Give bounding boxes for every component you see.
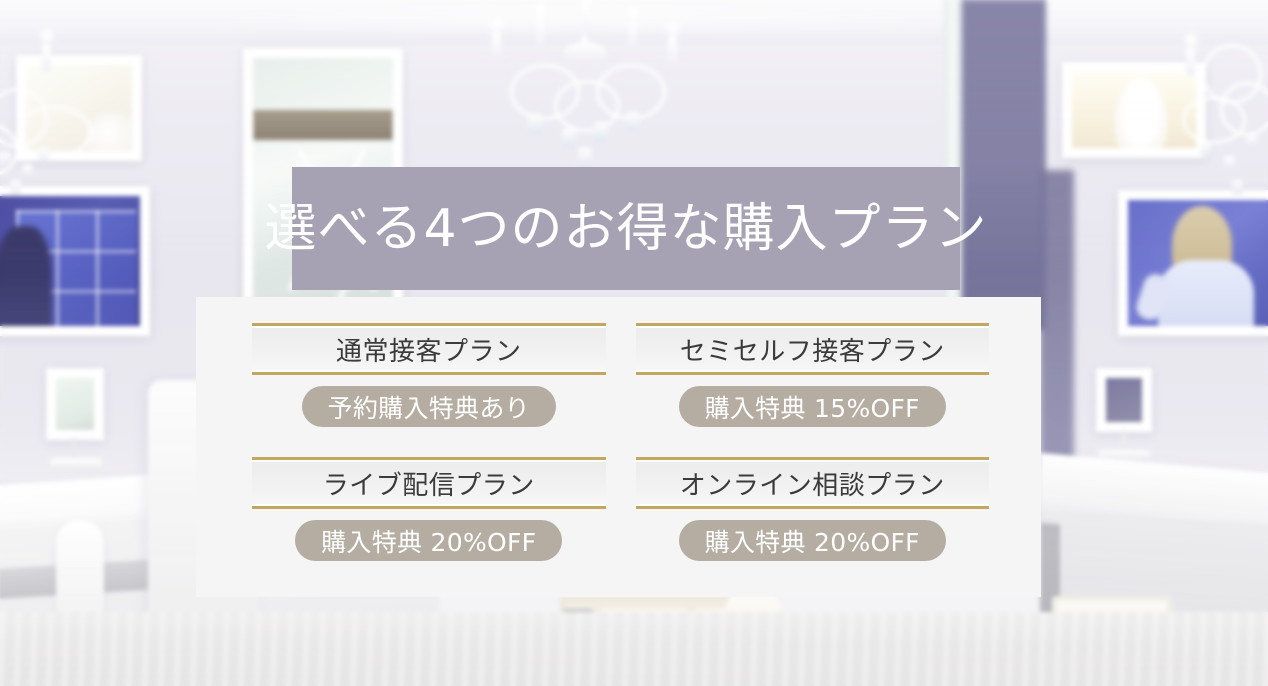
plan-name-semiself: セミセルフ接客プラン bbox=[636, 323, 990, 375]
hero-title-band: 選べる4つのお得な購入プラン bbox=[292, 167, 960, 290]
plan-badge-regular: 予約購入特典あり bbox=[302, 386, 556, 427]
plan-name-online: オンライン相談プラン bbox=[636, 457, 990, 509]
plan-card-online[interactable]: オンライン相談プラン 購入特典 20%OFF bbox=[636, 457, 990, 571]
plan-name-label: オンライン相談プラン bbox=[680, 465, 945, 502]
page-title: 選べる4つのお得な購入プラン bbox=[264, 203, 987, 255]
plan-name-label: 通常接客プラン bbox=[336, 331, 522, 368]
plan-name-label: セミセルフ接客プラン bbox=[680, 331, 945, 368]
plan-name-regular: 通常接客プラン bbox=[252, 323, 606, 375]
plans-grid: 通常接客プラン 予約購入特典あり セミセルフ接客プラン 購入特典 15%OFF … bbox=[196, 297, 1041, 597]
plan-card-semiself[interactable]: セミセルフ接客プラン 購入特典 15%OFF bbox=[636, 323, 990, 437]
plan-card-livestream[interactable]: ライブ配信プラン 購入特典 20%OFF bbox=[252, 457, 606, 571]
plans-panel: 通常接客プラン 予約購入特典あり セミセルフ接客プラン 購入特典 15%OFF … bbox=[196, 297, 1041, 597]
page-root: 選べる4つのお得な購入プラン 通常接客プラン 予約購入特典あり セミセルフ接客プ… bbox=[0, 0, 1268, 686]
plan-name-label: ライブ配信プラン bbox=[323, 465, 535, 502]
plan-badge-semiself: 購入特典 15%OFF bbox=[679, 386, 946, 427]
plan-card-regular[interactable]: 通常接客プラン 予約購入特典あり bbox=[252, 323, 606, 437]
plan-badge-livestream: 購入特典 20%OFF bbox=[295, 520, 562, 561]
plan-badge-online: 購入特典 20%OFF bbox=[679, 520, 946, 561]
plan-name-livestream: ライブ配信プラン bbox=[252, 457, 606, 509]
